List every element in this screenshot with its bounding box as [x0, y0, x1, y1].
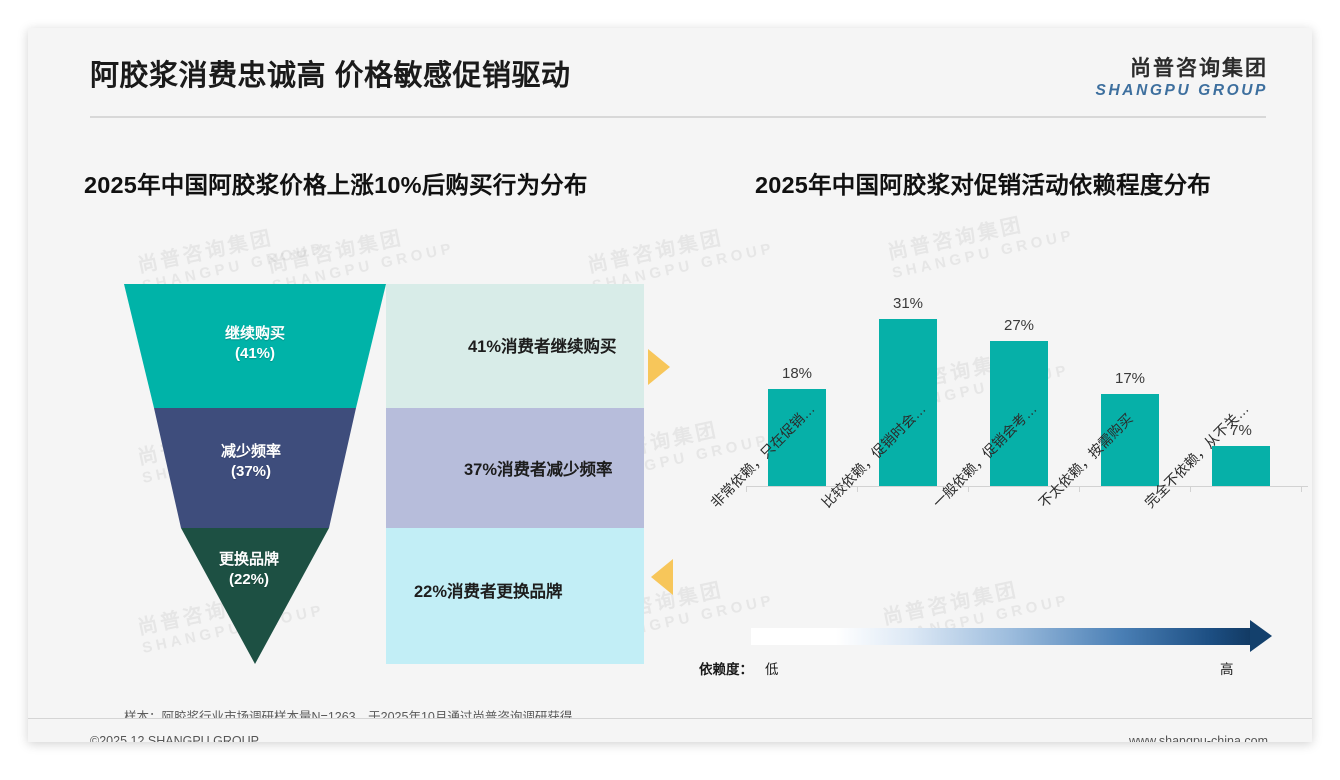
x-axis-tick [1301, 486, 1302, 492]
slide-header: 阿胶浆消费忠诚高 价格敏感促销驱动 尚普咨询集团 SHANGPU GROUP [28, 28, 1312, 118]
legend-low-label: 低 [765, 658, 779, 678]
header-divider [90, 116, 1266, 118]
slide-footer: ©2025.12 SHANGPU GROUP www.shangpu-china… [28, 718, 1312, 742]
watermark: 尚普咨询集团SHANGPU GROUP [886, 204, 1076, 282]
funnel-label-1: 减少频率(37%) [196, 442, 306, 483]
logo-english-text: SHANGPU GROUP [1096, 82, 1268, 101]
page-title: 阿胶浆消费忠诚高 价格敏感促销驱动 [90, 52, 571, 94]
right-panel-title: 2025年中国阿胶浆对促销活动依赖程度分布 [755, 166, 1211, 200]
x-axis-tick [746, 486, 747, 492]
bar-value-label: 27% [1004, 317, 1034, 334]
left-panel-title: 2025年中国阿胶浆价格上涨10%后购买行为分布 [84, 166, 588, 200]
logo-chinese-text: 尚普咨询集团 [1096, 58, 1268, 81]
x-axis-tick [1190, 486, 1191, 492]
triangle-right-icon [648, 349, 670, 385]
bar-value-label: 31% [893, 295, 923, 312]
dependency-bar-chart: 18% 31% 27% 17% 7% [746, 296, 1306, 486]
slide-canvas: 阿胶浆消费忠诚高 价格敏感促销驱动 尚普咨询集团 SHANGPU GROUP 尚… [28, 28, 1312, 742]
gradient-arrow-icon [1250, 620, 1272, 652]
funnel-chart: 继续购买(41%) 减少频率(37%) 更换品牌(22%) 41%消费者继续购买… [124, 284, 644, 664]
brand-logo: 尚普咨询集团 SHANGPU GROUP [1096, 58, 1268, 100]
funnel-segment-2 [181, 528, 329, 664]
triangle-left-icon [651, 559, 673, 595]
footer-website[interactable]: www.shangpu-china.com [1129, 734, 1268, 742]
bar-rect [879, 319, 937, 486]
x-axis-tick [857, 486, 858, 492]
bar-value-label: 17% [1115, 370, 1145, 387]
bar-value-label: 18% [782, 365, 812, 382]
dependency-gradient-bar [751, 628, 1251, 645]
funnel-label-0: 继续购买(41%) [200, 324, 310, 365]
x-axis-tick [1079, 486, 1080, 492]
footer-copyright: ©2025.12 SHANGPU GROUP [90, 734, 259, 742]
legend-high-label: 高 [1220, 658, 1234, 678]
x-axis-tick [968, 486, 969, 492]
funnel-side-text-1: 37%消费者减少频率 [464, 456, 613, 480]
funnel-label-2: 更换品牌(22%) [194, 550, 304, 591]
funnel-side-text-2: 22%消费者更换品牌 [414, 578, 563, 602]
legend-caption: 依赖度： [699, 658, 753, 678]
bar-rect [1212, 446, 1270, 486]
funnel-side-text-0: 41%消费者继续购买 [468, 333, 617, 357]
